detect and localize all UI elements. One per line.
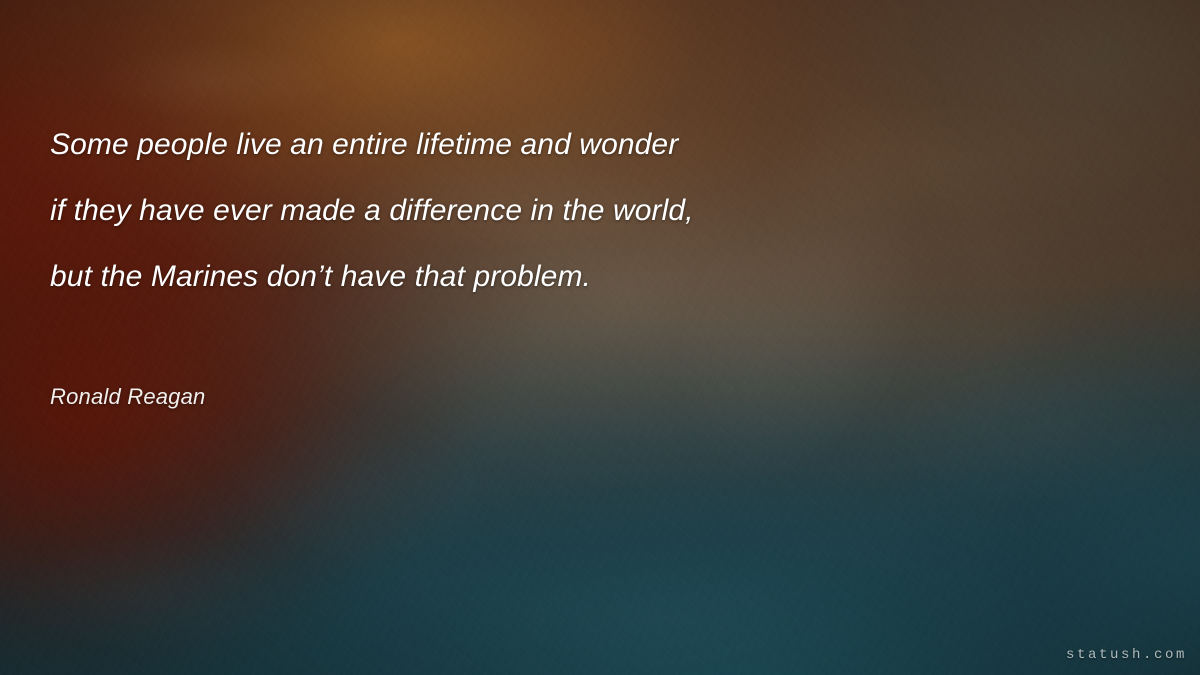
quote-line-2: if they have ever made a difference in t… xyxy=(50,178,930,244)
content-overlay: Some people live an entire lifetime and … xyxy=(0,0,1200,675)
quote-author: Ronald Reagan xyxy=(50,384,206,410)
quote-text: Some people live an entire lifetime and … xyxy=(50,112,930,310)
quote-card: Some people live an entire lifetime and … xyxy=(0,0,1200,675)
quote-line-1: Some people live an entire lifetime and … xyxy=(50,112,930,178)
quote-line-3: but the Marines don’t have that problem. xyxy=(50,244,930,310)
site-watermark: statush.com xyxy=(1066,647,1187,663)
